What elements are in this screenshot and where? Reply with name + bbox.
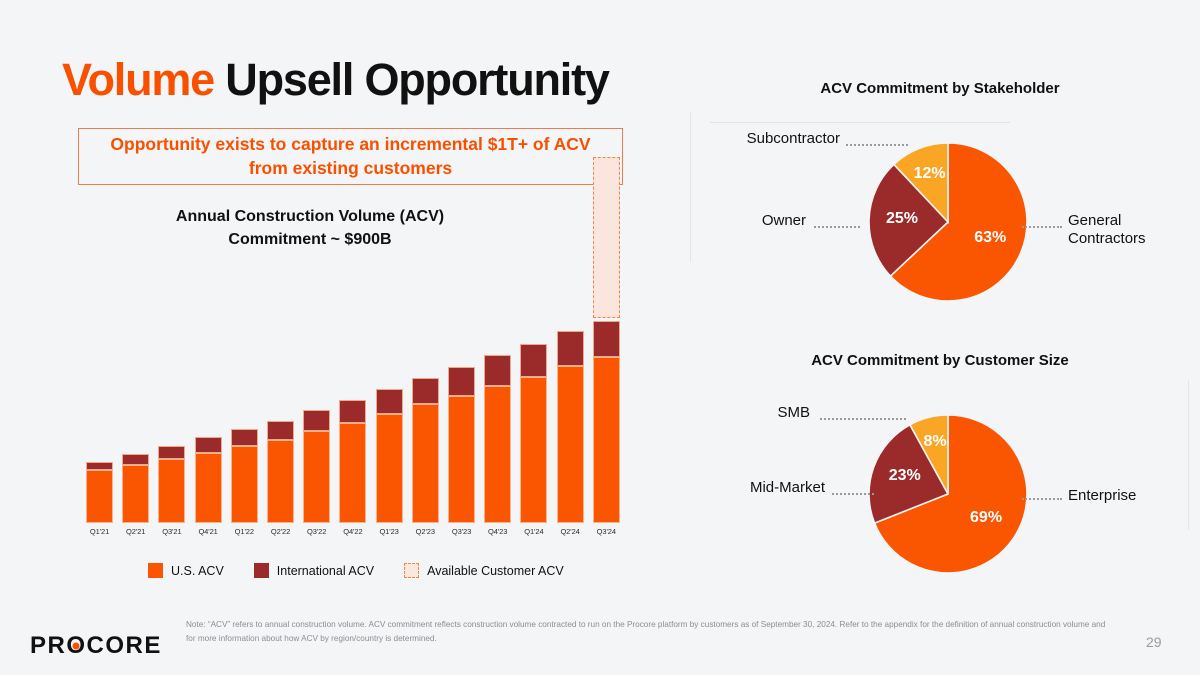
bar-segment-us-acv bbox=[86, 470, 113, 523]
logo-text-post: CORE bbox=[87, 632, 162, 660]
bar-x-axis-label: Q4'22 bbox=[333, 527, 373, 536]
bar-x-axis-label: Q2'22 bbox=[261, 527, 301, 536]
pie-category-label: SMB bbox=[740, 404, 810, 422]
bar-segment-us-acv bbox=[158, 459, 185, 523]
bar-segment-us-acv bbox=[520, 377, 547, 523]
bar-segment-us-acv bbox=[303, 431, 330, 523]
bar-chart: Annual Construction Volume (ACV) Commitm… bbox=[60, 205, 640, 595]
bar-x-axis-label: Q1'21 bbox=[80, 527, 120, 536]
callout-text: Opportunity exists to capture an increme… bbox=[79, 133, 622, 180]
pie-chart-stakeholder: ACV Commitment by Stakeholder 63%25%12%G… bbox=[700, 80, 1180, 330]
page-title-accent: Volume bbox=[62, 54, 214, 105]
bar-x-axis-label: Q3'23 bbox=[442, 527, 482, 536]
bar-segment-international-acv bbox=[339, 400, 366, 423]
bar-x-axis-label: Q3'24 bbox=[586, 527, 626, 536]
bar-segment-international-acv bbox=[376, 389, 403, 414]
bar-segment-us-acv bbox=[484, 386, 511, 523]
bar-segment-international-acv bbox=[557, 331, 584, 366]
page-title: Volume Upsell Opportunity bbox=[62, 54, 609, 106]
bar-segment-international-acv bbox=[412, 378, 439, 405]
bar-segment-international-acv bbox=[448, 367, 475, 396]
pie-value-label: 25% bbox=[876, 210, 928, 228]
legend-label: Available Customer ACV bbox=[427, 564, 564, 578]
legend-swatch-avail bbox=[404, 563, 419, 578]
pie-value-label: 23% bbox=[879, 467, 931, 485]
bar-segment-international-acv bbox=[195, 437, 222, 452]
pie-leader-line bbox=[1022, 226, 1062, 229]
bar-chart-plot: Q1'21Q2'21Q3'21Q4'21Q1'22Q2'22Q3'22Q4'22… bbox=[76, 205, 636, 523]
pie-category-label: Subcontractor bbox=[710, 130, 840, 148]
pie-category-label: Enterprise bbox=[1068, 487, 1136, 505]
legend-label: U.S. ACV bbox=[171, 564, 224, 578]
legend-label: International ACV bbox=[277, 564, 374, 578]
pie-value-label: 69% bbox=[960, 509, 1012, 527]
pie-stakeholder-topline bbox=[710, 122, 1010, 123]
pie-leader-line bbox=[814, 226, 860, 229]
pie-leader-line bbox=[1022, 498, 1062, 501]
bar-x-axis-label: Q2'24 bbox=[550, 527, 590, 536]
column-divider-2 bbox=[1188, 380, 1189, 530]
pie-leader-line bbox=[832, 493, 874, 496]
page-title-rest: Upsell Opportunity bbox=[214, 54, 609, 105]
pie-value-label: 8% bbox=[909, 433, 961, 451]
bar-segment-international-acv bbox=[86, 462, 113, 470]
pie-category-label: Mid-Market bbox=[710, 479, 825, 497]
pie-chart-customer-size: ACV Commitment by Customer Size 69%23%8%… bbox=[700, 352, 1180, 602]
pie-category-label: Owner bbox=[736, 212, 806, 230]
bar-segment-international-acv bbox=[231, 429, 258, 446]
bar-segment-us-acv bbox=[376, 414, 403, 523]
column-divider bbox=[690, 112, 691, 262]
legend-item: U.S. ACV bbox=[148, 563, 224, 578]
bar-segment-us-acv bbox=[122, 465, 149, 523]
legend-swatch-us bbox=[148, 563, 163, 578]
bar-segment-international-acv bbox=[267, 421, 294, 440]
bar-x-axis-label: Q2'21 bbox=[116, 527, 156, 536]
pie-leader-line bbox=[820, 418, 906, 421]
bar-segment-us-acv bbox=[231, 446, 258, 523]
pie-customer-size-title: ACV Commitment by Customer Size bbox=[700, 352, 1180, 369]
pie-stakeholder-title: ACV Commitment by Stakeholder bbox=[700, 80, 1180, 97]
bar-segment-available-customer-acv bbox=[593, 157, 620, 318]
bar-segment-us-acv bbox=[412, 404, 439, 523]
procore-logo: PROCORE bbox=[30, 632, 162, 660]
footnote: Note: “ACV” refers to annual constructio… bbox=[186, 618, 1116, 645]
bar-segment-us-acv bbox=[557, 366, 584, 523]
bar-segment-us-acv bbox=[195, 453, 222, 523]
pie-value-label: 12% bbox=[904, 165, 956, 183]
pie-category-label: GeneralContractors bbox=[1068, 212, 1146, 248]
legend-swatch-intl bbox=[254, 563, 269, 578]
bar-segment-international-acv bbox=[520, 344, 547, 377]
bar-segment-us-acv bbox=[593, 357, 620, 523]
legend-item: Available Customer ACV bbox=[404, 563, 564, 578]
bar-segment-international-acv bbox=[158, 446, 185, 459]
bar-x-axis-label: Q1'24 bbox=[514, 527, 554, 536]
bar-x-axis-label: Q1'22 bbox=[224, 527, 264, 536]
bar-x-axis-label: Q1'23 bbox=[369, 527, 409, 536]
bar-x-axis-label: Q2'23 bbox=[405, 527, 445, 536]
bar-x-axis-label: Q3'21 bbox=[152, 527, 192, 536]
callout-box: Opportunity exists to capture an increme… bbox=[78, 128, 623, 185]
bar-segment-us-acv bbox=[448, 396, 475, 523]
page-number: 29 bbox=[1146, 634, 1162, 650]
bar-chart-legend: U.S. ACVInternational ACVAvailable Custo… bbox=[148, 563, 564, 578]
bar-segment-us-acv bbox=[267, 440, 294, 523]
logo-o-dot: O bbox=[66, 632, 86, 660]
bar-segment-international-acv bbox=[593, 321, 620, 358]
pie-value-label: 63% bbox=[964, 229, 1016, 247]
bar-x-axis-label: Q4'23 bbox=[478, 527, 518, 536]
logo-text-pre: PR bbox=[30, 632, 66, 660]
slide-canvas: Volume Upsell Opportunity Opportunity ex… bbox=[0, 0, 1200, 675]
legend-item: International ACV bbox=[254, 563, 374, 578]
bar-segment-international-acv bbox=[122, 454, 149, 466]
bar-segment-us-acv bbox=[339, 423, 366, 523]
pie-leader-line bbox=[846, 144, 908, 147]
bar-x-axis-label: Q4'21 bbox=[188, 527, 228, 536]
bar-x-axis-label: Q3'22 bbox=[297, 527, 337, 536]
bar-segment-international-acv bbox=[484, 355, 511, 386]
bar-segment-international-acv bbox=[303, 410, 330, 431]
